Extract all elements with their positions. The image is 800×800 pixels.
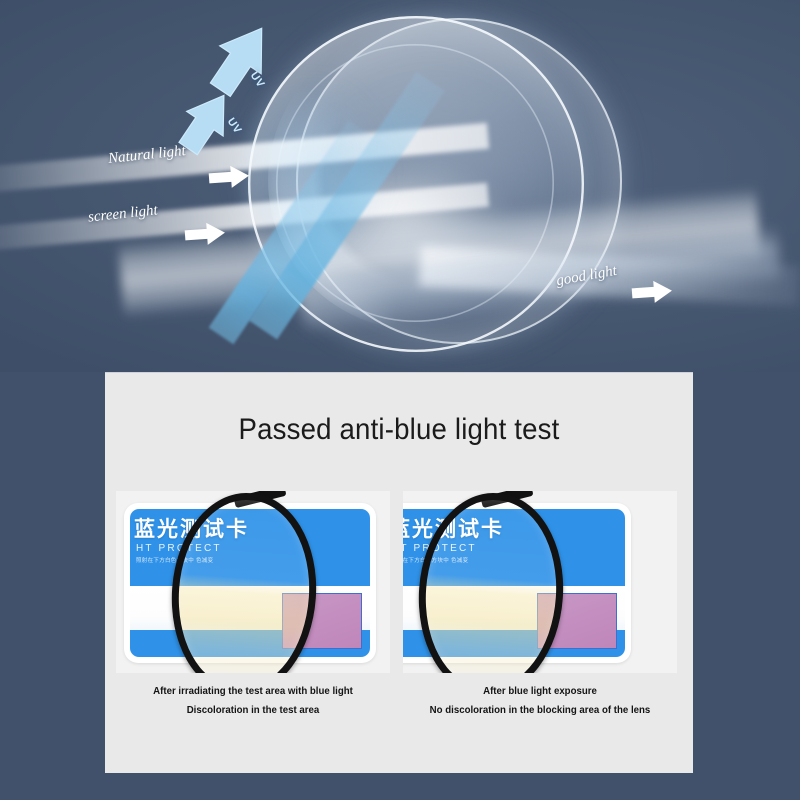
- good-light-arrow-icon: [629, 277, 675, 306]
- caption-left-line2: Discoloration in the test area: [127, 704, 379, 716]
- caption-right-line2: No discoloration in the blocking area of…: [414, 704, 666, 716]
- test-photo-right: 蓝光测试卡 HT PROTECT 照射在下方白色方块中 色减变: [403, 491, 677, 673]
- test-photo-left: 蓝光测试卡 HT PROTECT 照射在下方白色方块中 色减变: [116, 491, 390, 673]
- test-result-panel: Passed anti-blue light test 蓝光测试卡 HT PRO…: [105, 372, 693, 773]
- screen-light-arrow-icon: [182, 219, 228, 248]
- natural-light-arrow-icon: [206, 162, 252, 191]
- caption-left-line1: After irradiating the test area with blu…: [127, 685, 379, 697]
- caption-right-line1: After blue light exposure: [414, 685, 666, 697]
- hero-illustration: UV UV Natural light screen light good li…: [0, 0, 800, 372]
- panel-title: Passed anti-blue light test: [129, 413, 670, 447]
- product-image: UV UV Natural light screen light good li…: [0, 0, 800, 800]
